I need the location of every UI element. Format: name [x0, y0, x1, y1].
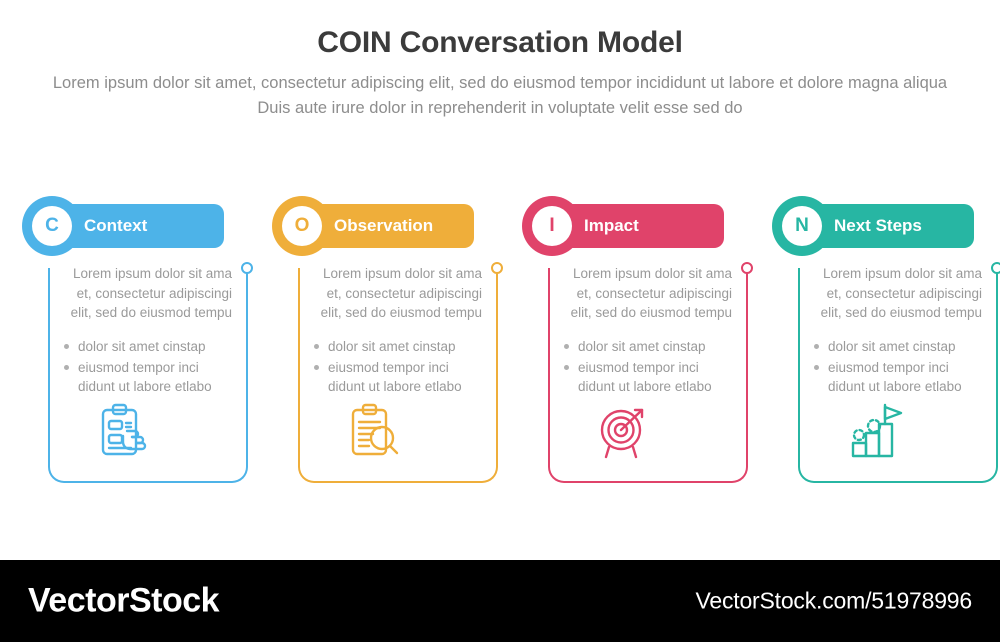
card-header-observation[interactable]: Observation O: [272, 196, 474, 256]
clipboard-search-icon: [250, 402, 500, 460]
coin-card-observation[interactable]: Observation O Lorem ipsum dolor sit ama …: [250, 196, 500, 496]
target-arrow-icon: [500, 402, 750, 460]
coin-card-next-steps[interactable]: Next Steps N Lorem ipsum dolor sit ama e…: [750, 196, 1000, 496]
card-body: Lorem ipsum dolor sit ama et, consectetu…: [310, 264, 500, 398]
card-description: Lorem ipsum dolor sit ama et, consectetu…: [560, 264, 732, 323]
list-item: dolor sit amet cinstap: [810, 337, 986, 356]
list-item: dolor sit amet cinstap: [310, 337, 486, 356]
card-body: Lorem ipsum dolor sit ama et, consectetu…: [560, 264, 750, 398]
list-item: eiusmod tempor inci didunt ut labore etl…: [310, 358, 486, 396]
letter-badge-letter: C: [32, 206, 72, 246]
card-bullet-list: dolor sit amet cinstap eiusmod tempor in…: [560, 337, 736, 396]
letter-badge-letter: N: [782, 206, 822, 246]
coin-card-list: Context C Lorem ipsum dolor sit ama et, …: [0, 196, 1000, 496]
letter-badge-letter: O: [282, 206, 322, 246]
letter-badge: N: [772, 196, 832, 256]
coin-card-context[interactable]: Context C Lorem ipsum dolor sit ama et, …: [0, 196, 250, 496]
coin-card-impact[interactable]: Impact I Lorem ipsum dolor sit ama et, c…: [500, 196, 750, 496]
letter-badge: O: [272, 196, 332, 256]
card-title: Observation: [334, 204, 433, 248]
card-description: Lorem ipsum dolor sit ama et, consectetu…: [60, 264, 232, 323]
list-item: eiusmod tempor inci didunt ut labore etl…: [560, 358, 736, 396]
card-bullet-list: dolor sit amet cinstap eiusmod tempor in…: [810, 337, 986, 396]
card-bullet-list: dolor sit amet cinstap eiusmod tempor in…: [310, 337, 486, 396]
card-bullet-list: dolor sit amet cinstap eiusmod tempor in…: [60, 337, 236, 396]
page-subtitle: Lorem ipsum dolor sit amet, consectetur …: [50, 71, 950, 121]
clipboard-hand-icon: [0, 402, 250, 460]
footer-bar: VectorStock VectorStock.com/51978996: [0, 560, 1000, 642]
card-title: Next Steps: [834, 204, 922, 248]
letter-badge-letter: I: [532, 206, 572, 246]
vectorstock-logo: VectorStock: [28, 582, 219, 621]
card-header-impact[interactable]: Impact I: [522, 196, 724, 256]
letter-badge: C: [22, 196, 82, 256]
card-title: Impact: [584, 204, 639, 248]
card-body: Lorem ipsum dolor sit ama et, consectetu…: [60, 264, 250, 398]
card-body: Lorem ipsum dolor sit ama et, consectetu…: [810, 264, 1000, 398]
growth-flag-icon: [750, 402, 1000, 460]
list-item: eiusmod tempor inci didunt ut labore etl…: [60, 358, 236, 396]
card-header-context[interactable]: Context C: [22, 196, 224, 256]
letter-badge: I: [522, 196, 582, 256]
card-header-next-steps[interactable]: Next Steps N: [772, 196, 974, 256]
page-title: COIN Conversation Model: [0, 26, 1000, 59]
list-item: dolor sit amet cinstap: [560, 337, 736, 356]
card-description: Lorem ipsum dolor sit ama et, consectetu…: [310, 264, 482, 323]
card-title: Context: [84, 204, 147, 248]
vectorstock-url: VectorStock.com/51978996: [696, 588, 973, 615]
list-item: dolor sit amet cinstap: [60, 337, 236, 356]
page-header: COIN Conversation Model Lorem ipsum dolo…: [0, 0, 1000, 121]
card-description: Lorem ipsum dolor sit ama et, consectetu…: [810, 264, 982, 323]
list-item: eiusmod tempor inci didunt ut labore etl…: [810, 358, 986, 396]
